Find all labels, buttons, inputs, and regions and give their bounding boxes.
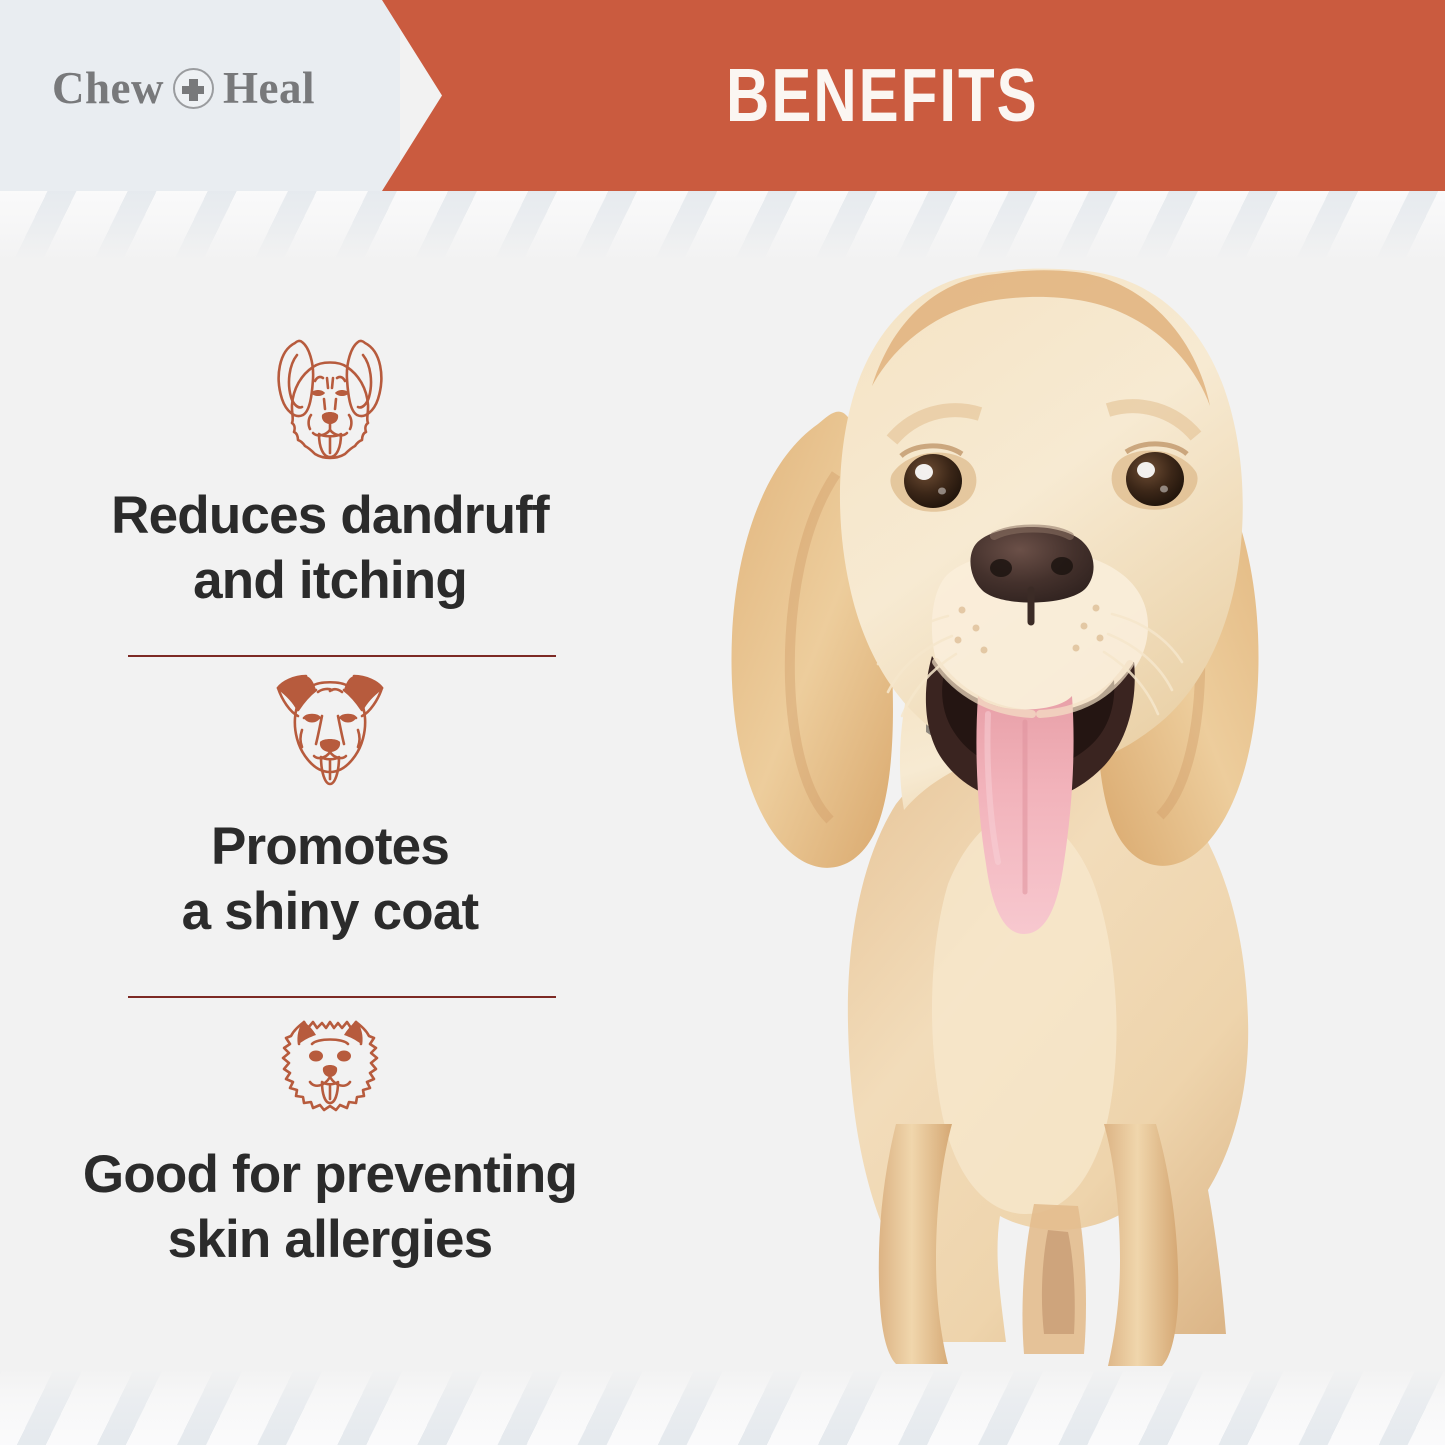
- benefit-label-line1: Promotes: [28, 815, 632, 880]
- benefit-item: Good for preventing skin allergies: [0, 1000, 660, 1272]
- benefit-label-line1: Good for preventing: [28, 1143, 632, 1208]
- benefit-divider: [128, 655, 556, 657]
- benefit-divider: [128, 996, 556, 998]
- benefits-banner: BENEFITS: [382, 0, 1445, 191]
- terrier-dog-face-icon: [0, 660, 660, 801]
- yellow-labrador-puppy-photo: [596, 244, 1396, 1404]
- corgi-dog-face-icon: [0, 315, 660, 470]
- benefit-label: Reduces dandruff and itching: [0, 484, 660, 613]
- bottom-diagonal-stripe-divider: [0, 1368, 1445, 1445]
- benefit-label: Good for preventing skin allergies: [0, 1143, 660, 1272]
- benefit-label-line2: skin allergies: [28, 1208, 632, 1273]
- benefit-label-line2: a shiny coat: [28, 880, 632, 945]
- logo-text-chew: Chew: [52, 66, 164, 111]
- pomeranian-dog-face-icon: [0, 1000, 660, 1129]
- benefit-item: Promotes a shiny coat: [0, 660, 660, 944]
- benefit-label-line2: and itching: [28, 549, 632, 614]
- brand-logo: Chew Heal: [52, 66, 315, 111]
- page-title: BENEFITS: [726, 50, 1039, 140]
- benefits-infographic: Chew Heal BENEFITS: [0, 0, 1445, 1445]
- medical-cross-circle-icon: [173, 68, 214, 109]
- benefit-label: Promotes a shiny coat: [0, 815, 660, 944]
- logo-text-heal: Heal: [223, 66, 315, 111]
- benefit-label-line1: Reduces dandruff: [28, 484, 632, 549]
- header-logo-panel: Chew Heal: [0, 0, 400, 191]
- header-bar: Chew Heal BENEFITS: [0, 0, 1445, 191]
- benefits-list: Reduces dandruff and itching: [0, 255, 660, 1365]
- benefit-item: Reduces dandruff and itching: [0, 315, 660, 613]
